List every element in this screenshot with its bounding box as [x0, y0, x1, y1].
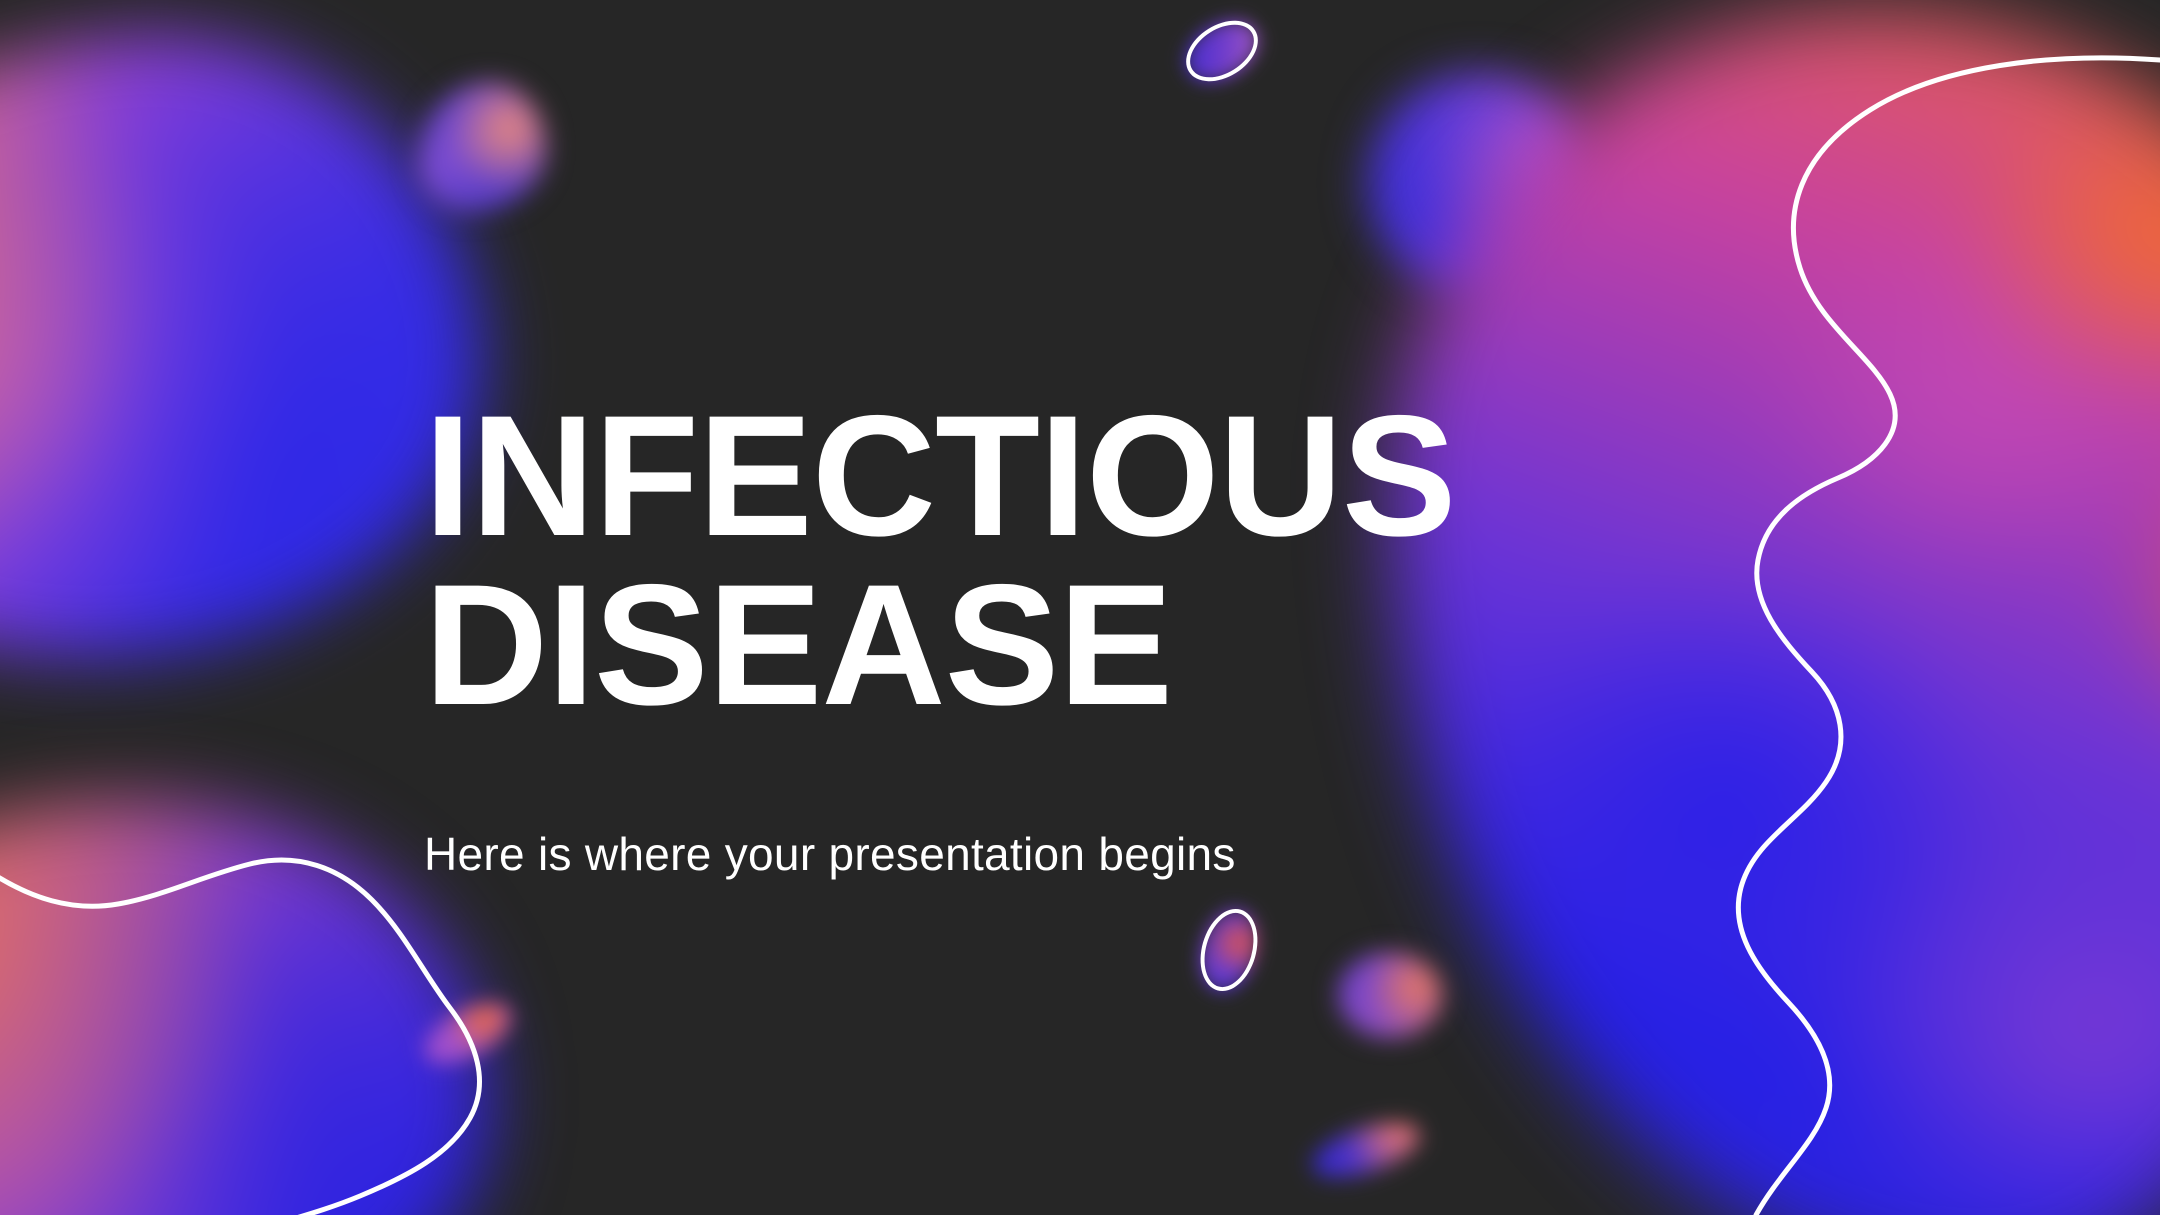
particle-top-ring-fill: [1175, 8, 1269, 93]
presentation-slide: INFECTIOUS DISEASE Here is where your pr…: [0, 0, 2160, 1215]
particle-top-ring-outline: [1175, 8, 1269, 93]
particle-streak-right: [1306, 1112, 1426, 1188]
slide-subtitle: Here is where your presentation begins: [424, 729, 1524, 882]
particle-mid-ring-fill: [1191, 902, 1266, 998]
particle-mid-ring: [1191, 902, 1266, 998]
slide-text-content: INFECTIOUS DISEASE Here is where your pr…: [424, 392, 1524, 882]
blob-triangle-small: [418, 82, 546, 212]
particle-oval-purple-salmon: [1338, 952, 1442, 1038]
curve-bottom-left-wavy: [0, 860, 479, 1215]
blob-round-purple: [1368, 72, 1590, 294]
page-title: INFECTIOUS DISEASE: [424, 392, 1524, 729]
curve-right-wavy: [1738, 58, 2160, 1215]
blob-bottom-left: [0, 800, 490, 1215]
particle-mid-ring-outline: [1191, 902, 1266, 998]
particle-top-ring: [1175, 8, 1269, 93]
particle-streak-left: [415, 990, 521, 1076]
